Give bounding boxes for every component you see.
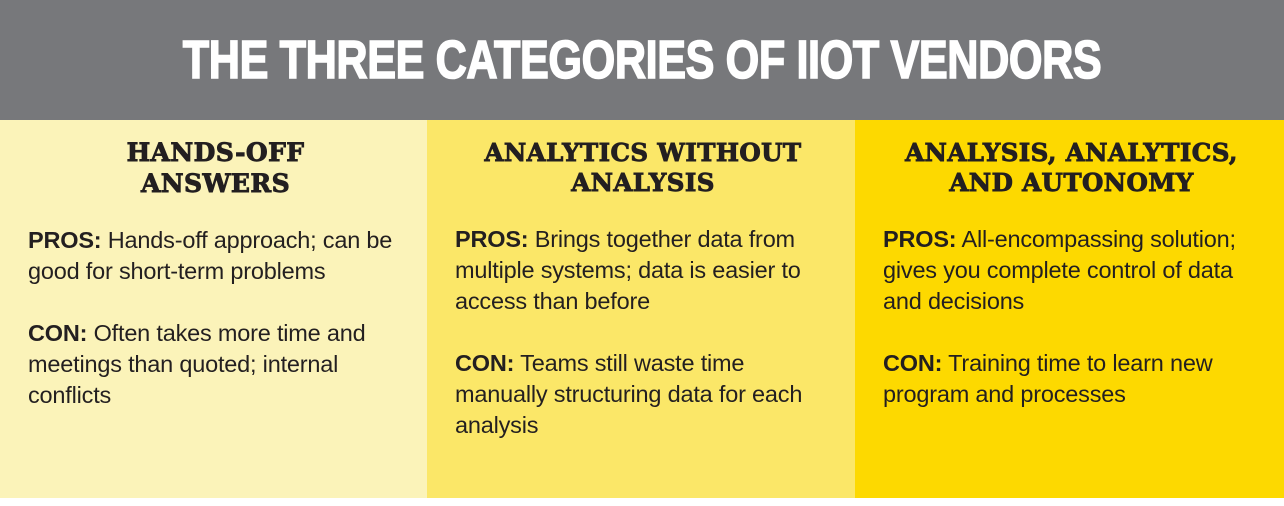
pros-entry: PROS: All-encompassing solution; gives y… [883, 224, 1260, 318]
category-columns: HANDS-OFF ANSWERS PROS: Hands-off approa… [0, 120, 1284, 498]
column-header-analysis-analytics-and-autonomy: ANALYSIS, ANALYTICS, AND AUTONOMY [883, 138, 1260, 198]
category-column-analysis-analytics-and-autonomy: ANALYSIS, ANALYTICS, AND AUTONOMY PROS: … [855, 120, 1284, 498]
con-entry: CON: Training time to learn new program … [883, 348, 1260, 411]
pros-label: PROS: [883, 226, 956, 252]
column-header-analytics-without-analysis: ANALYTICS WITHOUT ANALYSIS [455, 138, 831, 198]
page-title: THE THREE CATEGORIES OF IIOT VENDORS [183, 33, 1101, 87]
con-label: CON: [455, 350, 514, 376]
pros-entry: PROS: Hands-off approach; can be good fo… [28, 225, 403, 288]
category-column-analytics-without-analysis: ANALYTICS WITHOUT ANALYSIS PROS: Brings … [427, 120, 855, 498]
pros-label: PROS: [455, 226, 528, 252]
pros-label: PROS: [28, 227, 101, 253]
con-label: CON: [28, 320, 87, 346]
pros-entry: PROS: Brings together data from multiple… [455, 224, 831, 318]
category-column-hands-off-answers: HANDS-OFF ANSWERS PROS: Hands-off approa… [0, 120, 427, 498]
bottom-strip [0, 498, 1284, 506]
title-banner: THE THREE CATEGORIES OF IIOT VENDORS [0, 0, 1284, 120]
column-header-hands-off-answers: HANDS-OFF ANSWERS [28, 138, 403, 199]
infographic-root: THE THREE CATEGORIES OF IIOT VENDORS HAN… [0, 0, 1284, 506]
con-label: CON: [883, 350, 942, 376]
con-entry: CON: Teams still waste time manually str… [455, 348, 831, 442]
con-entry: CON: Often takes more time and meetings … [28, 318, 403, 412]
